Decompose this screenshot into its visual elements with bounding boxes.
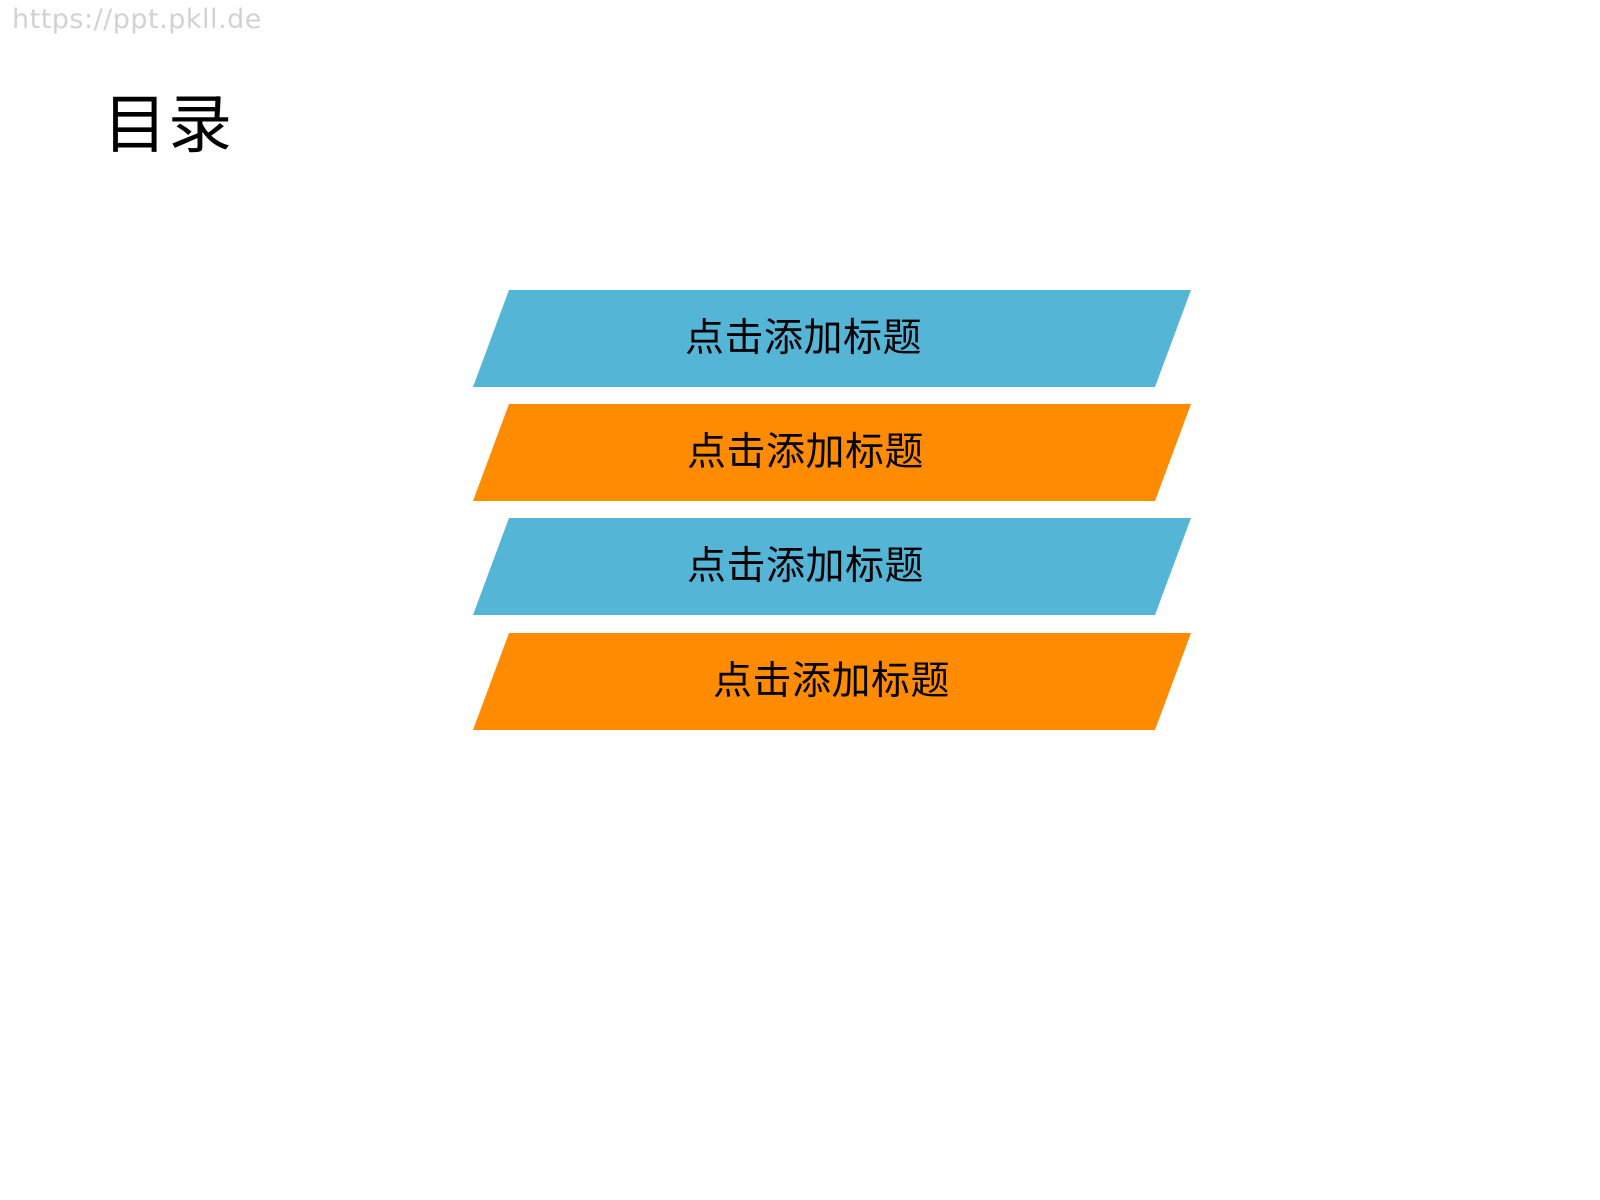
banner-label-3: 点击添加标题 xyxy=(687,518,924,615)
banner-stack: 点击添加标题 点击添加标题 点击添加标题 点击添加标题 xyxy=(0,0,1600,1200)
banner-item-2[interactable]: 点击添加标题 xyxy=(473,404,1191,501)
banner-label-1: 点击添加标题 xyxy=(685,290,922,387)
banner-item-4[interactable]: 点击添加标题 xyxy=(473,633,1191,730)
banner-label-4: 点击添加标题 xyxy=(713,633,950,730)
banner-label-2: 点击添加标题 xyxy=(687,404,924,501)
banner-item-3[interactable]: 点击添加标题 xyxy=(473,518,1191,615)
banner-item-1[interactable]: 点击添加标题 xyxy=(473,290,1191,387)
slide-canvas: https://ppt.pkll.de 目录 点击添加标题 点击添加标题 点击添… xyxy=(0,0,1600,1200)
